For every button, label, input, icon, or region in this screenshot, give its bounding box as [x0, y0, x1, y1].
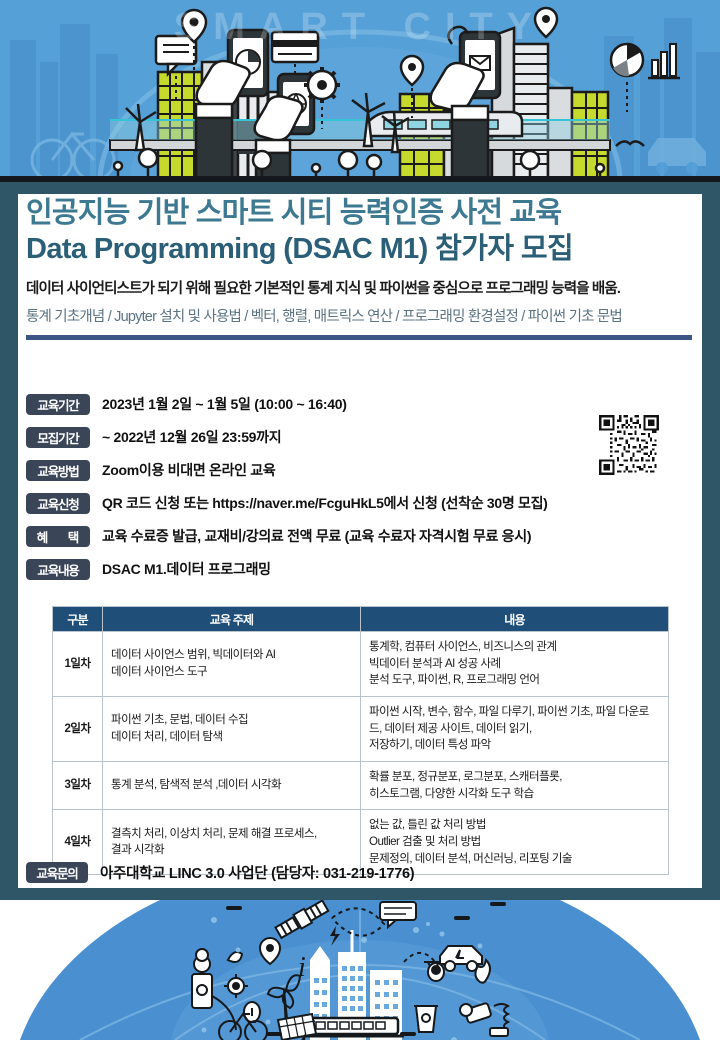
schedule-topic-4-line1: 결측치 처리, 이상치 처리, 문제 해결 프로세스, — [111, 826, 352, 843]
schedule-topic-3: 통계 분석, 탐색적 분석 ,데이터 시각화 — [103, 762, 361, 810]
qr-code-image — [597, 413, 661, 477]
smart-globe-illustration: i — [0, 900, 720, 1040]
schedule-desc-4-line1: 없는 값, 틀린 값 처리 방법 — [369, 817, 660, 834]
info-badge-period: 교육기간 — [26, 394, 90, 415]
info-badge-registration-period: 모집기간 — [26, 427, 90, 448]
contact-value: 아주대학교 LINC 3.0 사업단 (담당자: 031-219-1776) — [100, 862, 414, 883]
info-row-apply: 교육신청 QR 코드 신청 또는 https://naver.me/FcguHk… — [26, 489, 694, 517]
schedule-header-desc: 내용 — [361, 607, 669, 632]
schedule-topic-2: 파이썬 기초, 문법, 데이터 수집 데이터 처리, 데이터 탐색 — [103, 697, 361, 762]
schedule-day-3: 3일차 — [53, 762, 103, 810]
info-badge-benefits: 혜 택 — [26, 526, 90, 547]
qr-code[interactable] — [596, 412, 662, 478]
schedule-desc-3-line1: 확률 분포, 정규분포, 로그분포, 스캐터플롯, — [369, 769, 660, 786]
poster-root: SMART CITY 인공지능 기반 스마트 시티 능력인증 사전 교육 Dat… — [0, 0, 720, 1040]
schedule-header-topic: 교육 주제 — [103, 607, 361, 632]
schedule-header-day: 구분 — [53, 607, 103, 632]
schedule-header-row: 구분 교육 주제 내용 — [53, 607, 669, 632]
poster-title-line1: 인공지능 기반 스마트 시티 능력인증 사전 교육 — [26, 196, 694, 230]
schedule-day-2: 2일차 — [53, 697, 103, 762]
schedule-desc-3-line2: 히스토그램, 다양한 시각화 도구 학습 — [369, 786, 660, 803]
schedule-desc-1-line3: 분석 도구, 파이썬, R, 프로그래밍 언어 — [369, 672, 660, 689]
title-block: 인공지능 기반 스마트 시티 능력인증 사전 교육 Data Programmi… — [26, 196, 694, 340]
table-row: 2일차 파이썬 기초, 문법, 데이터 수집 데이터 처리, 데이터 탐색 파이… — [53, 697, 669, 762]
info-badge-curriculum: 교육내용 — [26, 559, 90, 580]
schedule-topic-3-line1: 통계 분석, 탐색적 분석 ,데이터 시각화 — [111, 777, 352, 794]
info-rows: 교육기간 2023년 1월 2일 ~ 1월 5일 (10:00 ~ 16:40)… — [26, 390, 694, 588]
schedule-day-1: 1일차 — [53, 632, 103, 697]
info-row-period: 교육기간 2023년 1월 2일 ~ 1월 5일 (10:00 ~ 16:40) — [26, 390, 694, 418]
table-row: 1일차 데이터 사이언스 범위, 빅데이터와 AI 데이터 사이언스 도구 통계… — [53, 632, 669, 697]
info-value-registration-period: ~ 2022년 12월 26일 23:59까지 — [102, 427, 281, 447]
schedule-desc-2-line1: 파이썬 시작, 변수, 함수, 파일 다루기, 파이썬 기초, 파일 다운로드,… — [369, 706, 649, 735]
table-row: 3일차 통계 분석, 탐색적 분석 ,데이터 시각화 확률 분포, 정규분포, … — [53, 762, 669, 810]
info-value-curriculum: DSAC M1.데이터 프로그래밍 — [102, 559, 271, 579]
schedule-topic-2-line2: 데이터 처리, 데이터 탐색 — [111, 729, 352, 746]
schedule-desc-1-line1: 통계학, 컴퓨터 사이언스, 비즈니스의 관계 — [369, 639, 660, 656]
info-badge-contact: 교육문의 — [26, 862, 88, 883]
schedule-desc-2-line2: 저장하기, 데이터 특성 파악 — [369, 737, 660, 754]
schedule-topic-1-line2: 데이터 사이언스 도구 — [111, 664, 352, 681]
svg-text:i: i — [298, 952, 306, 983]
info-row-registration-period: 모집기간 ~ 2022년 12월 26일 23:59까지 — [26, 423, 694, 451]
title-divider — [26, 335, 692, 340]
info-value-apply[interactable]: QR 코드 신청 또는 https://naver.me/FcguHkL5에서 … — [102, 493, 548, 513]
schedule-topic-4-line2: 결과 시각화 — [111, 842, 352, 859]
info-value-method: Zoom이용 비대면 온라인 교육 — [102, 460, 275, 480]
contact-block: 교육문의 아주대학교 LINC 3.0 사업단 (담당자: 031-219-17… — [26, 862, 414, 883]
footer-illustration: i — [0, 900, 720, 1040]
poster-title-line2: Data Programming (DSAC M1) 참가자 모집 — [26, 232, 694, 266]
info-row-benefits: 혜 택 교육 수료증 발급, 교재비/강의료 전액 무료 (교육 수료자 자격시… — [26, 522, 694, 550]
info-badge-apply: 교육신청 — [26, 493, 90, 514]
schedule-desc-1: 통계학, 컴퓨터 사이언스, 비즈니스의 관계 빅데이터 분석과 AI 성공 사… — [361, 632, 669, 697]
info-badge-method: 교육방법 — [26, 460, 90, 481]
schedule-topic-1-line1: 데이터 사이언스 범위, 빅데이터와 AI — [111, 647, 352, 664]
info-row-curriculum: 교육내용 DSAC M1.데이터 프로그래밍 — [26, 555, 694, 583]
hero-illustration: SMART CITY — [0, 0, 720, 182]
poster-subtitle-secondary: 통계 기초개념 / Jupyter 설치 및 사용법 / 벡터, 행렬, 매트릭… — [26, 305, 694, 326]
schedule-topic-2-line1: 파이썬 기초, 문법, 데이터 수집 — [111, 712, 352, 729]
schedule-desc-2: 파이썬 시작, 변수, 함수, 파일 다루기, 파이썬 기초, 파일 다운로드,… — [361, 697, 669, 762]
poster-subtitle-primary: 데이터 사이언티스트가 되기 위해 필요한 기본적인 통계 지식 및 파이썬을 … — [26, 277, 694, 298]
schedule-topic-1: 데이터 사이언스 범위, 빅데이터와 AI 데이터 사이언스 도구 — [103, 632, 361, 697]
schedule-desc-4-line2: Outlier 검출 및 처리 방법 — [369, 834, 660, 851]
info-value-benefits: 교육 수료증 발급, 교재비/강의료 전액 무료 (교육 수료자 자격시험 무료… — [102, 526, 531, 546]
info-value-period: 2023년 1월 2일 ~ 1월 5일 (10:00 ~ 16:40) — [102, 394, 347, 414]
schedule-desc-1-line2: 빅데이터 분석과 AI 성공 사례 — [369, 656, 660, 673]
smart-city-illustration — [0, 0, 720, 182]
schedule-table: 구분 교육 주제 내용 1일차 데이터 사이언스 범위, 빅데이터와 AI 데이… — [52, 606, 669, 875]
info-row-method: 교육방법 Zoom이용 비대면 온라인 교육 — [26, 456, 694, 484]
schedule-desc-3: 확률 분포, 정규분포, 로그분포, 스캐터플롯, 히스토그램, 다양한 시각화… — [361, 762, 669, 810]
